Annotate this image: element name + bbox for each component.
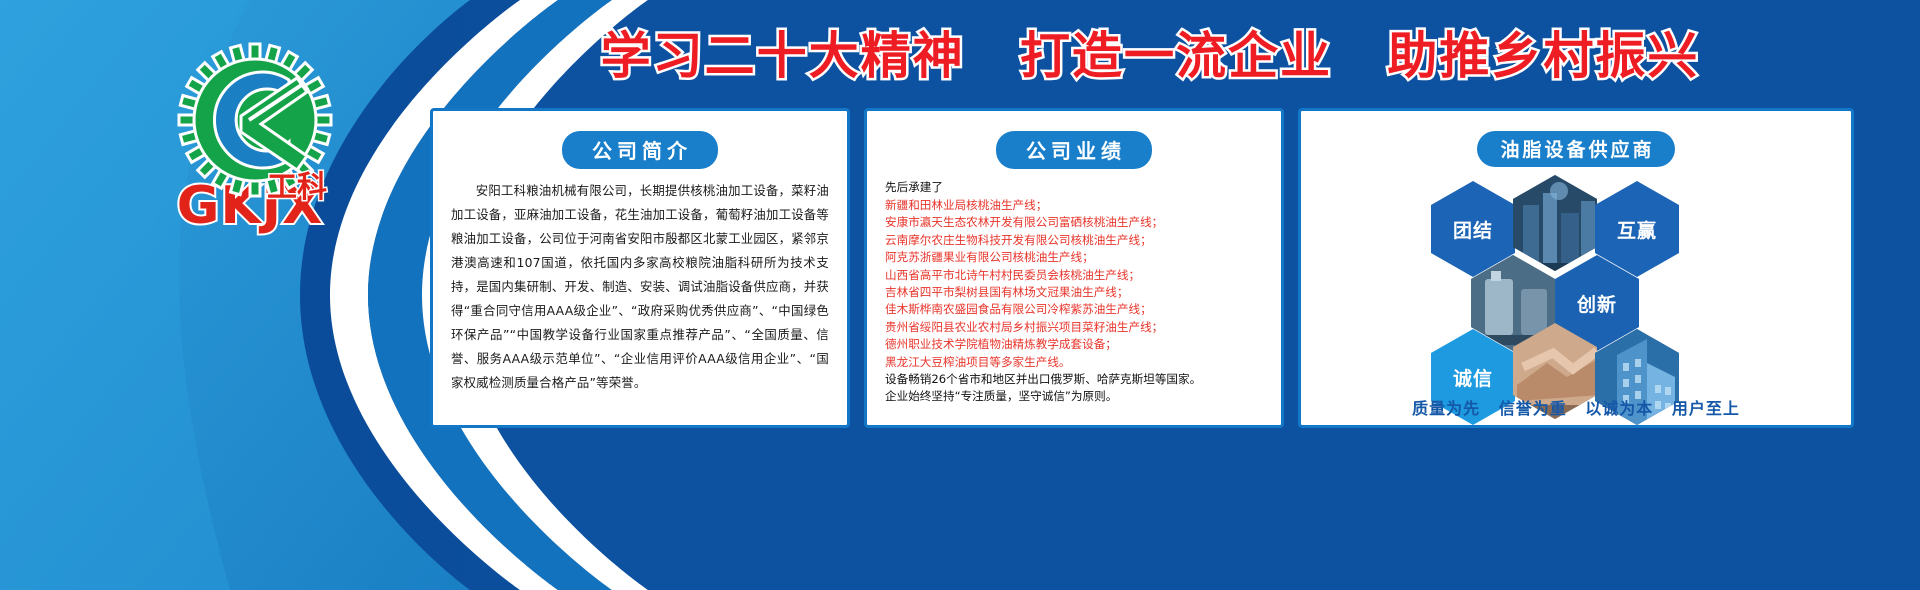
list-item: 贵州省绥阳县农业农村局乡村振兴项目菜籽油生产线；: [885, 319, 1263, 336]
panel-company-intro: 公司简介 安阳工科粮油机械有限公司，长期提供核桃油加工设备，菜籽油加工设备，亚麻…: [430, 108, 850, 428]
panel-intro-text: 安阳工科粮油机械有限公司，长期提供核桃油加工设备，菜籽油加工设备，亚麻油加工设备…: [451, 179, 829, 395]
hex-label: 团结: [1453, 216, 1493, 243]
headline-banner: 学习二十大精神 打造一流企业 助推乡村振兴: [430, 20, 1870, 92]
hex-label: 诚信: [1453, 364, 1493, 391]
hex-label: 创新: [1577, 290, 1617, 317]
logo-chinese-text: 工科: [267, 162, 327, 206]
slogan-part-2: 信誉为重: [1499, 399, 1567, 418]
panel-row: 公司简介 安阳工科粮油机械有限公司，长期提供核桃油加工设备，菜籽油加工设备，亚麻…: [430, 108, 1870, 428]
list-item: 云南摩尔农庄生物科技开发有限公司核桃油生产线；: [885, 232, 1263, 249]
panel-performance-badge: 公司业绩: [996, 131, 1152, 169]
headline-part-2: 打造一流企业: [1020, 27, 1332, 85]
performance-intro: 先后承建了: [885, 179, 1263, 196]
performance-tail-line: 企业始终坚持“专注质量，坚守诚信”为原则。: [885, 388, 1263, 405]
panel-intro-badge: 公司简介: [562, 131, 718, 169]
performance-list: 新疆和田林业局核桃油生产线； 安康市瀛天生态农林开发有限公司富硒核桃油生产线； …: [885, 197, 1263, 371]
list-item: 新疆和田林业局核桃油生产线；: [885, 197, 1263, 214]
performance-tail: 设备畅销26个省市和地区并出口俄罗斯、哈萨克斯坦等国家。 企业始终坚持“专注质量…: [885, 371, 1263, 406]
panel-supplier-badge: 油脂设备供应商: [1477, 131, 1674, 167]
panel-company-performance: 公司业绩 先后承建了 新疆和田林业局核桃油生产线； 安康市瀛天生态农林开发有限公…: [864, 108, 1284, 428]
hex-cluster: 团结 互赢: [1319, 177, 1833, 383]
hex-label: 互赢: [1617, 216, 1657, 243]
list-item: 德州职业技术学院植物油精炼教学成套设备；: [885, 336, 1263, 353]
company-logo: 工科 GKJX: [120, 40, 380, 260]
headline-part-3: 助推乡村振兴: [1387, 27, 1699, 85]
headline-part-1: 学习二十大精神: [601, 27, 965, 85]
list-item: 吉林省四平市梨树县国有林场文冠果油生产线；: [885, 284, 1263, 301]
list-item: 安康市瀛天生态农林开发有限公司富硒核桃油生产线；: [885, 214, 1263, 231]
gear-e-logo-icon: 工科: [175, 40, 325, 190]
slogan-part-1: 质量为先: [1412, 399, 1480, 418]
slogan-part-3: 以诚为本: [1585, 399, 1653, 418]
slogan-part-4: 用户至上: [1672, 399, 1740, 418]
list-item: 阿克苏浙疆果业有限公司核桃油生产线；: [885, 249, 1263, 266]
list-item: 山西省高平市北诗午村村民委员会核桃油生产线；: [885, 267, 1263, 284]
list-item: 佳木斯桦南农盛园食品有限公司冷榨紫苏油生产线；: [885, 301, 1263, 318]
performance-tail-line: 设备畅销26个省市和地区并出口俄罗斯、哈萨克斯坦等国家。: [885, 371, 1263, 388]
panel-supplier: 油脂设备供应商 团结: [1298, 108, 1854, 428]
list-item: 黑龙江大豆榨油项目等多家生产线。: [885, 354, 1263, 371]
supplier-slogan: 质量为先 信誉为重 以诚为本 用户至上: [1301, 395, 1851, 419]
